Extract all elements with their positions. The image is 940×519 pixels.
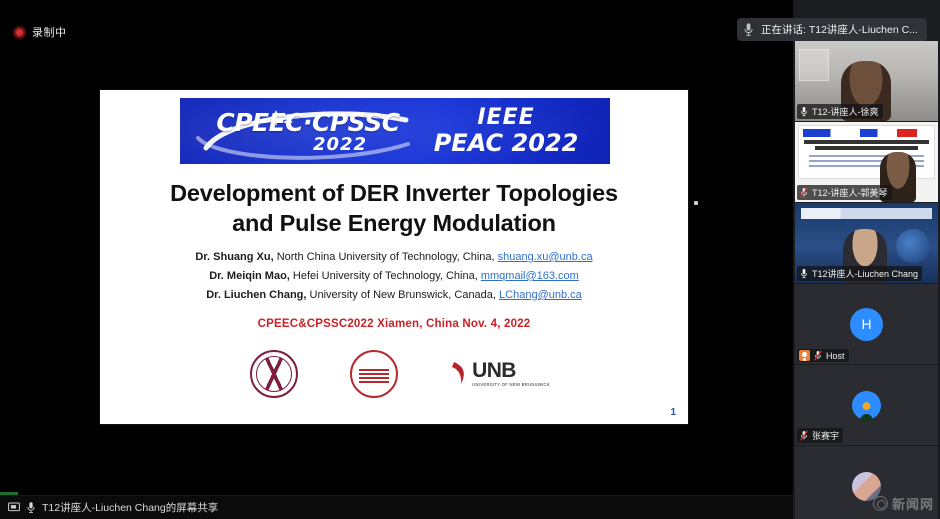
shared-screen-stage: CPEEC·CPSSC 2022 IEEE PEAC 2022 Developm… bbox=[0, 0, 793, 495]
screen-share-icon bbox=[8, 502, 20, 513]
unb-flame-icon bbox=[450, 360, 469, 388]
avatar-initial: H bbox=[850, 308, 883, 341]
zoom-meeting-window: 录制中 正在讲话: T12讲座人-Liuchen C... CPEEC· bbox=[0, 0, 940, 519]
slide-title-line1: Development of DER Inverter Topologies bbox=[114, 178, 674, 208]
watermark: 新闻网 bbox=[873, 494, 934, 513]
unb-logo: UNB UNIVERSITY OF NEW BRUNSWICK bbox=[450, 360, 550, 388]
microphone-icon bbox=[799, 106, 809, 117]
recording-dot-icon bbox=[14, 27, 25, 38]
slide-title-line2: and Pulse Energy Modulation bbox=[114, 208, 674, 238]
participant-label: T12讲座人-Liuchen Chang bbox=[797, 266, 922, 281]
author-email-link[interactable]: mmqmail@163.com bbox=[481, 270, 579, 282]
north-china-university-of-technology-logo bbox=[250, 350, 298, 398]
author-row: Dr. Meiqin Mao, Hefei University of Tech… bbox=[128, 271, 660, 282]
author-affiliation: Hefei University of Technology, China, bbox=[290, 270, 481, 282]
microphone-icon bbox=[742, 22, 755, 37]
hefei-university-of-technology-logo bbox=[350, 350, 398, 398]
author-row: Dr. Liuchen Chang, University of New Bru… bbox=[128, 290, 660, 301]
participant-label: T12-讲座人-徐爽 bbox=[797, 104, 883, 119]
author-email-link[interactable]: shuang.xu@unb.ca bbox=[498, 251, 593, 263]
unb-wordmark: UNB bbox=[472, 360, 550, 381]
participant-name: Host bbox=[826, 351, 845, 361]
microphone-icon bbox=[799, 268, 809, 279]
avatar-image bbox=[852, 391, 881, 420]
author-name: Dr. Shuang Xu, bbox=[195, 251, 273, 263]
participant-name: T12讲座人-Liuchen Chang bbox=[812, 267, 918, 280]
thumbnail-title-line bbox=[804, 140, 929, 144]
unb-subtitle: UNIVERSITY OF NEW BRUNSWICK bbox=[472, 383, 550, 387]
watermark-text: 新闻网 bbox=[892, 494, 934, 513]
author-row: Dr. Shuang Xu, North China University of… bbox=[128, 252, 660, 263]
banner-left-logo: CPEEC·CPSSC 2022 bbox=[192, 110, 424, 154]
recording-label: 录制中 bbox=[32, 24, 67, 40]
participant-name: T12-讲座人-郭美琴 bbox=[812, 186, 888, 199]
logo-mark-icon bbox=[873, 496, 888, 511]
conference-venue-line: CPEEC&CPSSC2022 Xiamen, China Nov. 4, 20… bbox=[128, 318, 660, 330]
host-badge-icon bbox=[799, 350, 810, 361]
thumbnail-title-line bbox=[815, 146, 918, 150]
slide-page-number: 1 bbox=[670, 407, 676, 418]
participant-rail[interactable]: T12-讲座人-徐爽 T12- bbox=[793, 0, 940, 519]
participant-name: T12-讲座人-徐爽 bbox=[812, 105, 879, 118]
author-affiliation: North China University of Technology, Ch… bbox=[274, 251, 498, 263]
active-speaker-pill[interactable]: 正在讲话: T12讲座人-Liuchen C... bbox=[737, 18, 927, 41]
conference-banner: CPEEC·CPSSC 2022 IEEE PEAC 2022 bbox=[178, 96, 612, 166]
mouse-cursor bbox=[694, 201, 698, 205]
author-name: Dr. Meiqin Mao, bbox=[209, 270, 290, 282]
institution-logos: UNB UNIVERSITY OF NEW BRUNSWICK bbox=[250, 348, 550, 400]
participant-tile-xushuang[interactable]: T12-讲座人-徐爽 bbox=[795, 41, 938, 121]
microphone-muted-icon bbox=[799, 187, 809, 198]
microphone-muted-icon bbox=[813, 350, 823, 361]
microphone-icon bbox=[26, 501, 36, 514]
background-globe bbox=[896, 229, 930, 263]
participant-label: Host bbox=[797, 349, 849, 362]
author-name: Dr. Liuchen Chang, bbox=[206, 289, 306, 301]
thumbnail-logo-band bbox=[803, 129, 927, 137]
participant-tile-zhangsaiyu[interactable]: 张赛宇 bbox=[795, 365, 938, 445]
recording-indicator[interactable]: 录制中 bbox=[14, 24, 67, 40]
screen-share-label: T12讲座人-Liuchen Chang的屏幕共享 bbox=[42, 500, 218, 515]
banner-cpeec-label: CPEEC·CPSSC bbox=[192, 110, 424, 135]
slide-title: Development of DER Inverter Topologies a… bbox=[114, 178, 674, 238]
presentation-slide: CPEEC·CPSSC 2022 IEEE PEAC 2022 Developm… bbox=[100, 90, 688, 424]
banner-peac-label: PEAC 2022 bbox=[416, 131, 596, 156]
participant-tile-guomeiqin[interactable]: T12-讲座人-郭美琴 bbox=[795, 122, 938, 202]
participant-name: 张赛宇 bbox=[812, 429, 839, 442]
active-speaker-label: 正在讲话: T12讲座人-Liuchen C... bbox=[761, 22, 918, 37]
microphone-muted-icon bbox=[799, 430, 809, 441]
banner-ieee-label: IEEE bbox=[416, 106, 596, 129]
author-list: Dr. Shuang Xu, North China University of… bbox=[128, 252, 660, 309]
screen-share-status-bar[interactable]: T12讲座人-Liuchen Chang的屏幕共享 bbox=[0, 495, 793, 519]
participant-label: 张赛宇 bbox=[797, 428, 843, 443]
banner-left-year: 2022 bbox=[256, 136, 424, 154]
banner-right-logo: IEEE PEAC 2022 bbox=[416, 106, 596, 156]
participant-tile-liuchen-chang[interactable]: T12讲座人-Liuchen Chang bbox=[795, 203, 938, 283]
author-affiliation: University of New Brunswick, Canada, bbox=[306, 289, 499, 301]
author-email-link[interactable]: LChang@unb.ca bbox=[499, 289, 582, 301]
participant-label: T12-讲座人-郭美琴 bbox=[797, 185, 892, 200]
participant-tile-host[interactable]: H Host bbox=[795, 284, 938, 364]
